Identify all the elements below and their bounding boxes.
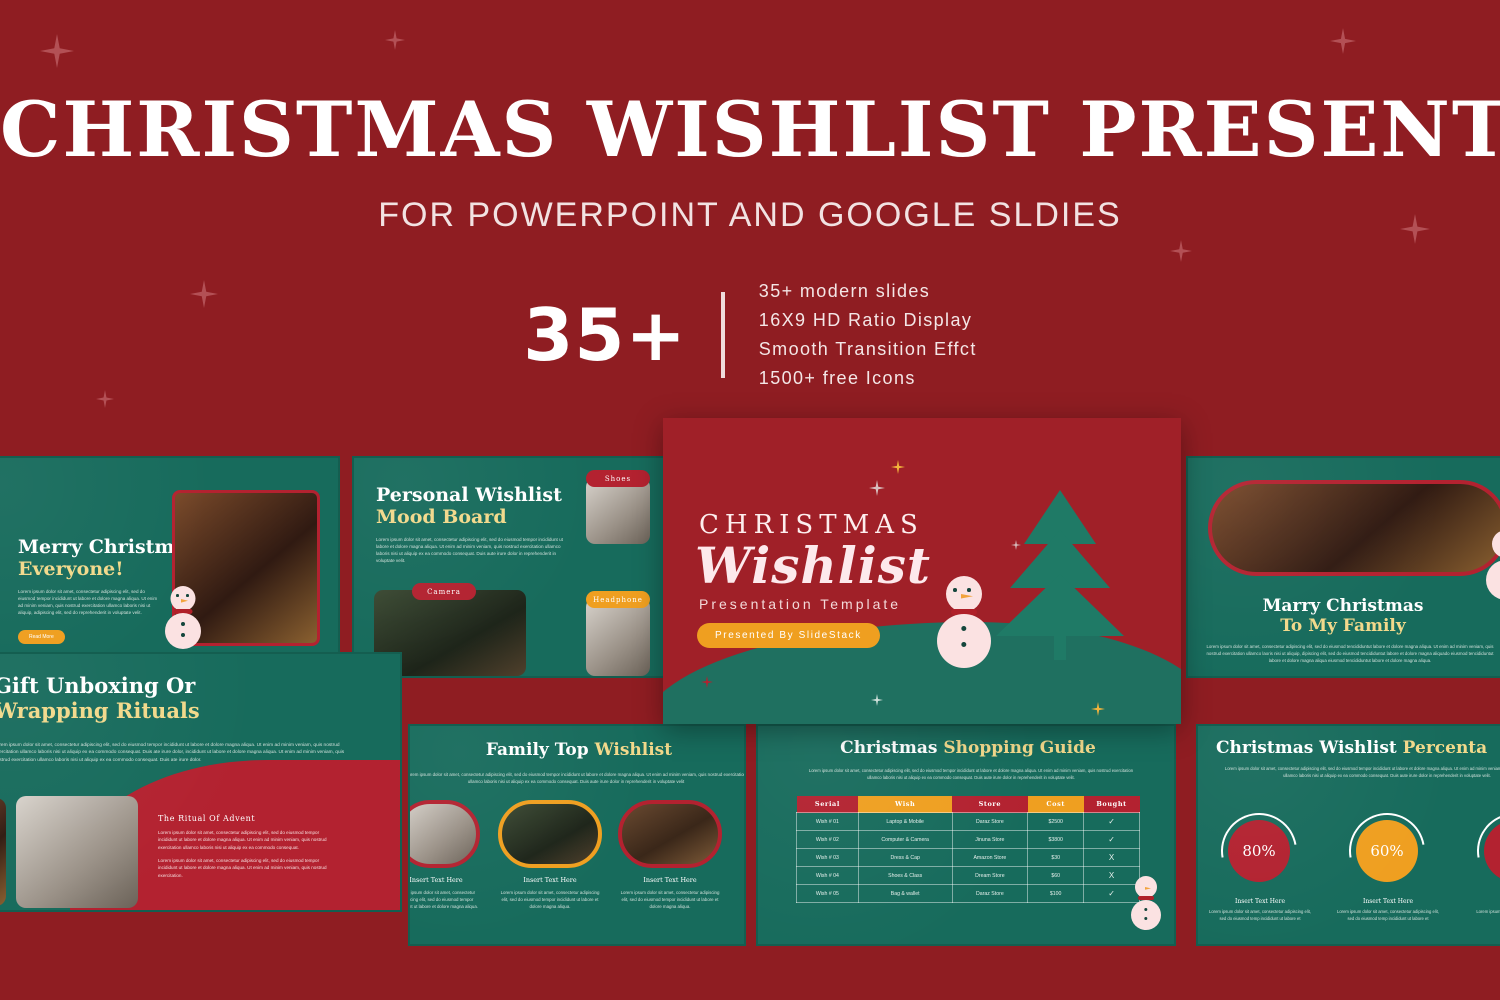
- card-2: Insert Text Here Lorem ipsum dolor sit a…: [500, 876, 600, 910]
- table-header-cell: Bought: [1084, 796, 1140, 813]
- table-header-cell: Serial: [797, 796, 859, 813]
- table-row: Wish # 02 Computer & Camera Jinuna Store…: [797, 831, 1140, 849]
- slide-wishlist-percentage[interactable]: Christmas Wishlist Percenta Lorem ipsum …: [1196, 724, 1500, 946]
- slide-count: 35+: [523, 299, 687, 371]
- card-body: Lorem ipsum dolor sit amet, consectetur …: [620, 889, 720, 910]
- snowman-icon: [1480, 530, 1500, 602]
- stat-label-1: Insert Text Here Lorem ipsum dolor sit a…: [1208, 898, 1312, 922]
- cell-cost: $100: [1028, 885, 1084, 903]
- cell-wish: Dress & Cap: [858, 849, 952, 867]
- stat-value: 80%: [1242, 842, 1275, 860]
- slide-photo-3: [618, 800, 722, 868]
- card-title: Insert Text Here: [408, 876, 482, 884]
- slide-heading-highlight: Wishlist: [595, 740, 673, 760]
- card-title: Insert Text Here: [620, 876, 720, 884]
- feature-summary: 35+ 35+ modern slides 16X9 HD Ratio Disp…: [0, 277, 1500, 394]
- slide-body: Lorem ipsum dolor sit amet, consectetur …: [806, 768, 1136, 781]
- cell-wish: Shoes & Class: [858, 867, 952, 885]
- slide-body: Lorem ipsum dolor sit amet, consectetur …: [18, 588, 163, 616]
- slide-photo-shoes: [586, 478, 650, 544]
- table-row: Wish # 05 Bag & wallet Daraz Store $100 …: [797, 885, 1140, 903]
- cell-bought: ✓: [1084, 813, 1140, 831]
- card-3: Insert Text Here Lorem ipsum dolor sit a…: [620, 876, 720, 910]
- slide-body: Lorem ipsum dolor sit amet, consectetur …: [1200, 644, 1500, 664]
- ritual-card-p1: Lorem ipsum dolor sit amet, consectetur …: [158, 829, 334, 851]
- slide-photo-1: [408, 800, 480, 868]
- presented-by-badge[interactable]: Presented By SlideStack: [697, 623, 880, 648]
- vertical-divider: [721, 292, 725, 378]
- cell-bought: ✓: [1084, 831, 1140, 849]
- slide-heading-line2: To My Family: [1188, 616, 1498, 636]
- hero-section: CHRISTMAS WISHLIST PRESENTATION FOR POWE…: [0, 0, 1500, 420]
- cell-cost: $30: [1028, 849, 1084, 867]
- cell-store: Jinuna Store: [952, 831, 1028, 849]
- slide-merry-christmas[interactable]: Merry Christmas Everyone! Lorem ipsum do…: [0, 456, 340, 678]
- page-subtitle: FOR POWERPOINT AND GOOGLE SLDIES: [0, 196, 1500, 235]
- stat-circle-1: 80%: [1228, 820, 1290, 882]
- table-header-cell: Cost: [1028, 796, 1084, 813]
- stat-title: Insert: [1464, 898, 1500, 905]
- card-body: Lorem ipsum dolor sit amet, consectetur …: [408, 889, 482, 910]
- snowman-icon: [931, 576, 997, 668]
- featured-subtitle: Presentation Template: [699, 596, 901, 612]
- slide-heading: Gift Unboxing Or Wrapping Rituals: [0, 674, 200, 724]
- slide-body: Lorem ipsum dolor sit amet, consectetur …: [1222, 766, 1500, 779]
- featured-slide[interactable]: CHRISTMAS Wishlist Presentation Template…: [663, 418, 1181, 724]
- cell-serial: Wish # 03: [797, 849, 859, 867]
- feature-item: 35+ modern slides: [759, 277, 977, 306]
- cell-wish: Computer & Camera: [858, 831, 952, 849]
- stat-circle-2: 60%: [1356, 820, 1418, 882]
- feature-item: 1500+ free Icons: [759, 364, 977, 393]
- slide-gift-unboxing[interactable]: Gift Unboxing Or Wrapping Rituals Lorem …: [0, 652, 402, 912]
- slide-body: Lorem ipsum dolor sit amet, consectetur …: [376, 536, 564, 564]
- slide-heading-line1: Marry Christmas: [1188, 596, 1498, 616]
- slide-heading-line1: Merry Christmas: [18, 536, 198, 558]
- feature-item: 16X9 HD Ratio Display: [759, 306, 977, 335]
- cell-wish: Bag & wallet: [858, 885, 952, 903]
- cell-serial: Wish # 05: [797, 885, 859, 903]
- chip-camera: Camera: [412, 583, 476, 600]
- slide-heading-line1: Christmas: [840, 738, 943, 758]
- slide-photo-ribbon: [0, 798, 6, 906]
- snowman-icon: [160, 586, 206, 650]
- stat-title: Insert Text Here: [1208, 898, 1312, 905]
- ritual-card-title: The Ritual Of Advent: [158, 814, 334, 823]
- slide-family-top-wishlist[interactable]: Family Top Wishlist Lorem ipsum dolor si…: [408, 724, 746, 946]
- card-title: Insert Text Here: [500, 876, 600, 884]
- slide-heading-line2: Wrapping Rituals: [0, 699, 200, 724]
- slide-heading: Personal Wishlist Mood Board: [376, 484, 562, 529]
- stat-body: Lorem ipsum dolor sit amet, consectetur …: [1336, 909, 1440, 922]
- slide-heading: Christmas Wishlist Percenta: [1216, 738, 1487, 758]
- ritual-card: The Ritual Of Advent Lorem ipsum dolor s…: [158, 814, 334, 879]
- featured-title-script: Wishlist: [695, 536, 931, 595]
- slide-photo-headphone: [586, 598, 650, 676]
- stat-value: 60%: [1370, 842, 1403, 860]
- cell-serial: Wish # 01: [797, 813, 859, 831]
- cell-cost: $60: [1028, 867, 1084, 885]
- table-row: Wish # 01 Laptop & Mobile Daraz Store $2…: [797, 813, 1140, 831]
- sparkle-icon: [891, 460, 905, 474]
- cell-serial: Wish # 02: [797, 831, 859, 849]
- slide-photo-gifts: [16, 796, 138, 908]
- cell-store: Amazon Store: [952, 849, 1028, 867]
- stat-label-3: Insert Lorem ipsum d tur adipiscing e mp…: [1464, 898, 1500, 916]
- stat-body: Lorem ipsum d tur adipiscing e mp incidi…: [1464, 909, 1500, 916]
- slide-heading-highlight: Shopping Guide: [943, 738, 1095, 758]
- stat-body: Lorem ipsum dolor sit amet, consectetur …: [1208, 909, 1312, 922]
- read-more-button[interactable]: Read More: [18, 630, 65, 644]
- cell-store: Daraz Store: [952, 813, 1028, 831]
- cell-cost: $3800: [1028, 831, 1084, 849]
- shopping-table: Serial Wish Store Cost Bought Wish # 01 …: [796, 796, 1140, 903]
- slide-mood-board[interactable]: Personal Wishlist Mood Board Lorem ipsum…: [352, 456, 690, 678]
- table-row: Wish # 04 Shoes & Class Dream Store $60 …: [797, 867, 1140, 885]
- feature-list: 35+ modern slides 16X9 HD Ratio Display …: [759, 277, 977, 394]
- slide-photo-2: [498, 800, 602, 868]
- cell-bought: X: [1084, 849, 1140, 867]
- slide-family-photo[interactable]: Marry Christmas To My Family Lorem ipsum…: [1186, 456, 1500, 678]
- slide-heading-line2: Mood Board: [376, 506, 562, 528]
- slide-body: Lorem ipsum dolor sit amet, consectetur …: [408, 772, 746, 786]
- slide-heading: Christmas Shopping Guide: [758, 738, 1176, 758]
- table-header-row: Serial Wish Store Cost Bought: [797, 796, 1140, 813]
- table-header-cell: Wish: [858, 796, 952, 813]
- ritual-card-p2: Lorem ipsum dolor sit amet, consectetur …: [158, 857, 334, 879]
- card-body: Lorem ipsum dolor sit amet, consectetur …: [500, 889, 600, 910]
- cell-serial: Wish # 04: [797, 867, 859, 885]
- stat-title: Insert Text Here: [1336, 898, 1440, 905]
- slide-heading-highlight: Percenta: [1403, 738, 1488, 758]
- table-header-cell: Store: [952, 796, 1028, 813]
- slide-heading: Marry Christmas To My Family: [1188, 596, 1498, 636]
- cell-cost: $2500: [1028, 813, 1084, 831]
- snowman-icon: [1126, 876, 1166, 932]
- slide-shopping-guide[interactable]: Christmas Shopping Guide Lorem ipsum dol…: [756, 724, 1176, 946]
- page-title: CHRISTMAS WISHLIST PRESENTATION: [0, 92, 1500, 168]
- slide-heading: Family Top Wishlist: [410, 740, 746, 760]
- feature-item: Smooth Transition Effct: [759, 335, 977, 364]
- cell-store: Dream Store: [952, 867, 1028, 885]
- slide-photo: [1208, 480, 1500, 576]
- stat-label-2: Insert Text Here Lorem ipsum dolor sit a…: [1336, 898, 1440, 922]
- slide-heading-line1: Personal Wishlist: [376, 484, 562, 506]
- slide-heading-line1: Christmas Wishlist: [1216, 738, 1403, 758]
- slide-heading-line1: Family Top: [486, 740, 595, 760]
- table-row: Wish # 03 Dress & Cap Amazon Store $30 X: [797, 849, 1140, 867]
- cell-store: Daraz Store: [952, 885, 1028, 903]
- christmas-tree-icon: [995, 490, 1125, 654]
- stat-circle-3: 5: [1484, 820, 1500, 882]
- chip-shoes: Shoes: [586, 470, 650, 487]
- slide-heading-line1: Gift Unboxing Or: [0, 674, 200, 699]
- card-1: Insert Text Here Lorem ipsum dolor sit a…: [408, 876, 482, 910]
- slide-heading-line2: Everyone!: [18, 558, 198, 580]
- cell-wish: Laptop & Mobile: [858, 813, 952, 831]
- sparkle-icon: [869, 480, 885, 496]
- slide-heading: Merry Christmas Everyone!: [18, 536, 198, 581]
- chip-headphone: Headphone: [586, 591, 650, 608]
